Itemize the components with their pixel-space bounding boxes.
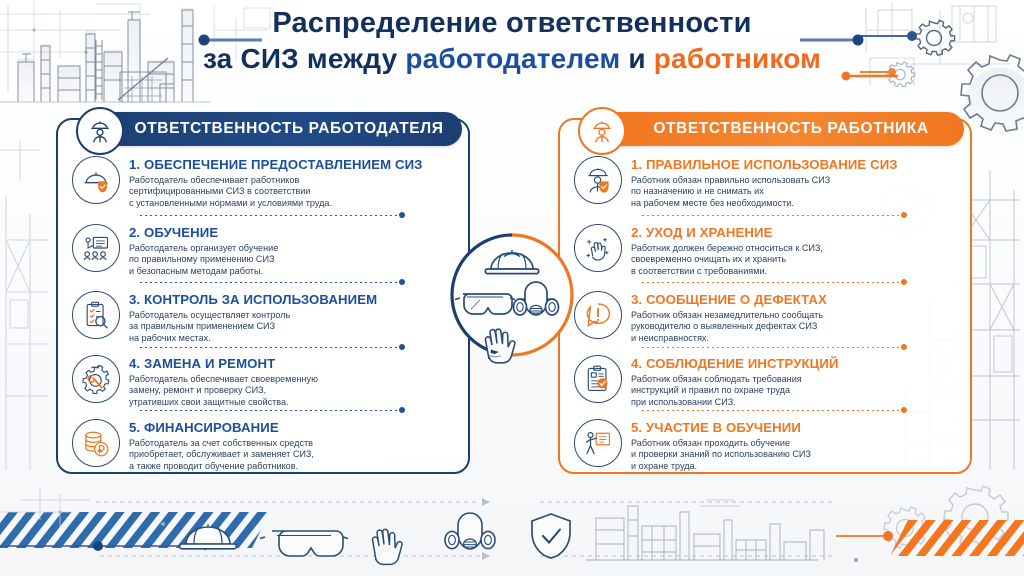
clipboard-check-icon xyxy=(574,355,622,403)
worker-item-3-body: Работник обязан незамедлительно сообщать… xyxy=(631,310,827,344)
body-line: а также проводит обучение работников. xyxy=(129,461,314,472)
title-line-2: за СИЗ между работодателем и работником xyxy=(0,41,1024,76)
separator xyxy=(642,215,904,216)
body-line: своевременно очищать их и хранить xyxy=(631,254,823,265)
title-line-1: Распределение ответственности xyxy=(0,6,1024,41)
separator xyxy=(140,347,402,348)
worker-item-1: 1. ПРАВИЛЬНОЕ ИСПОЛЬЗОВАНИЕ СИЗ Работник… xyxy=(574,156,904,209)
presenter-board-icon xyxy=(574,419,622,467)
employer-badge xyxy=(76,107,124,155)
body-line: Работодатель обеспечивает своевременную xyxy=(129,374,318,385)
worker-item-2-body: Работник должен бережно относиться к СИЗ… xyxy=(631,243,823,277)
employer-item-5-title: 5. ФИНАНСИРОВАНИЕ xyxy=(129,420,314,435)
employer-panel-header: ОТВЕТСТВЕННОСТЬ РАБОТОДАТЕЛЯ xyxy=(90,112,462,146)
worker-item-5-title: 5. УЧАСТИЕ В ОБУЧЕНИИ xyxy=(631,420,811,435)
center-ppe-medallion xyxy=(447,219,577,371)
speech-bubble-alert-icon xyxy=(574,291,622,339)
employer-item-1-title: 1. ОБЕСПЕЧЕНИЕ ПРЕДОСТАВЛЕНИЕМ СИЗ xyxy=(129,157,423,172)
infographic-canvas: Распределение ответственности за СИЗ меж… xyxy=(0,0,1024,576)
body-line: утративших свои защитные свойства. xyxy=(129,397,318,408)
training-board-icon xyxy=(72,224,120,272)
hard-hat-icon xyxy=(180,524,237,549)
body-line: за правильным применением СИЗ xyxy=(129,321,377,332)
employer-item-4-body: Работодатель обеспечивает своевременную … xyxy=(129,374,318,408)
employer-item-4-title: 4. ЗАМЕНА И РЕМОНТ xyxy=(129,356,318,371)
body-line: Работник обязан незамедлительно сообщать xyxy=(631,310,827,321)
shield-check-icon xyxy=(532,514,570,558)
employer-item-3-title: 3. КОНТРОЛЬ ЗА ИСПОЛЬЗОВАНИЕМ xyxy=(129,292,377,307)
body-line: Работодатель организует обучение xyxy=(129,243,278,254)
worker-item-5: 5. УЧАСТИЕ В ОБУЧЕНИИ Работник обязан пр… xyxy=(574,419,904,472)
employer-item-2: 2. ОБУЧЕНИЕ Работодатель организует обуч… xyxy=(72,224,402,277)
worker-item-3-title: 3. СООБЩЕНИЕ О ДЕФЕКТАХ xyxy=(631,292,827,307)
separator-dot xyxy=(901,344,907,350)
safety-goggles-icon xyxy=(260,531,348,556)
bottom-ppe-icons xyxy=(0,492,1024,576)
body-line: и безопасным методам работы. xyxy=(129,266,278,277)
body-line: на рабочем месте без необходимости. xyxy=(631,198,898,209)
body-line: с установленными нормами и условиями тру… xyxy=(129,198,423,209)
worker-item-1-body: Работник обязан правильно использовать С… xyxy=(631,175,898,209)
body-line: Работник должен бережно относиться к СИЗ… xyxy=(631,243,823,254)
worker-item-3: 3. СООБЩЕНИЕ О ДЕФЕКТАХ Работник обязан … xyxy=(574,291,904,344)
coins-ruble-icon xyxy=(72,419,120,467)
clipboard-magnifier-icon xyxy=(72,291,120,339)
separator-dot xyxy=(399,212,405,218)
worker-item-4: 4. СОБЛЮДЕНИЕ ИНСТРУКЦИЙ Работник обязан… xyxy=(574,355,904,408)
title-part-1: за СИЗ между xyxy=(203,43,405,74)
body-line: и неисправностях. xyxy=(631,333,827,344)
page-title: Распределение ответственности за СИЗ меж… xyxy=(0,6,1024,76)
gear-wrench-icon xyxy=(72,355,120,403)
separator xyxy=(140,282,402,283)
cleaning-hand-sparkle-icon xyxy=(574,224,622,272)
separator-dot xyxy=(901,407,907,413)
worker-header-label: ОТВЕТСТВЕННОСТЬ РАБОТНИКА xyxy=(592,120,964,138)
respirator-mask-icon xyxy=(445,513,495,549)
body-line: и охране труда. xyxy=(631,461,811,472)
body-line: и проверки знаний по использованию СИЗ xyxy=(631,449,811,460)
body-line: Работодатель за счет собственных средств xyxy=(129,438,314,449)
body-line: в соответствии с требованиями. xyxy=(631,266,823,277)
hard-hat-shield-icon xyxy=(72,156,120,204)
worker-shield-icon xyxy=(574,156,622,204)
worker-item-4-title: 4. СОБЛЮДЕНИЕ ИНСТРУКЦИЙ xyxy=(631,356,839,371)
employer-item-3-body: Работодатель осуществляет контроль за пр… xyxy=(129,310,377,344)
worker-helmet-icon xyxy=(588,117,616,145)
employer-item-2-body: Работодатель организует обучение по прав… xyxy=(129,243,278,277)
employer-item-5-body: Работодатель за счет собственных средств… xyxy=(129,438,314,472)
separator xyxy=(642,347,904,348)
body-line: замену, ремонт и проверку СИЗ, xyxy=(129,385,318,396)
left-structure-line-art xyxy=(0,140,48,470)
separator-dot xyxy=(399,279,405,285)
worker-badge xyxy=(578,107,626,155)
worker-item-4-body: Работник обязан соблюдать требования инс… xyxy=(631,374,839,408)
body-line: Работодатель осуществляет контроль xyxy=(129,310,377,321)
worker-item-1-title: 1. ПРАВИЛЬНОЕ ИСПОЛЬЗОВАНИЕ СИЗ xyxy=(631,157,898,172)
employer-item-4: 4. ЗАМЕНА И РЕМОНТ Работодатель обеспечи… xyxy=(72,355,402,408)
separator-dot xyxy=(901,279,907,285)
employer-item-1: 1. ОБЕСПЕЧЕНИЕ ПРЕДОСТАВЛЕНИЕМ СИЗ Работ… xyxy=(72,156,402,209)
employer-header-label: ОТВЕТСТВЕННОСТЬ РАБОТОДАТЕЛЯ xyxy=(90,120,462,138)
separator xyxy=(140,215,402,216)
body-line: Работник обязан проходить обучение xyxy=(631,438,811,449)
separator xyxy=(140,410,402,411)
employer-item-3: 3. КОНТРОЛЬ ЗА ИСПОЛЬЗОВАНИЕМ Работодате… xyxy=(72,291,402,344)
employer-item-2-title: 2. ОБУЧЕНИЕ xyxy=(129,225,278,240)
body-line: по назначению и не снимать их xyxy=(631,186,898,197)
body-line: при использовании СИЗ. xyxy=(631,397,839,408)
worker-item-2-title: 2. УХОД И ХРАНЕНИЕ xyxy=(631,225,823,240)
separator xyxy=(642,410,904,411)
body-line: сертифицированными СИЗ в соответствии xyxy=(129,186,423,197)
body-line: на рабочих местах. xyxy=(129,333,377,344)
worker-helmet-icon xyxy=(86,117,114,145)
separator xyxy=(642,282,904,283)
body-line: Работодатель обеспечивает работников xyxy=(129,175,423,186)
worker-item-2: 2. УХОД И ХРАНЕНИЕ Работник должен береж… xyxy=(574,224,904,277)
body-line: Работник обязан соблюдать требования xyxy=(631,374,839,385)
title-part-employer: работодателем xyxy=(405,43,620,74)
body-line: Работник обязан правильно использовать С… xyxy=(631,175,898,186)
title-part-worker: работником xyxy=(654,43,821,74)
body-line: инструкций и правил по охране труда xyxy=(631,385,839,396)
separator-dot xyxy=(901,212,907,218)
worker-panel-header: ОТВЕТСТВЕННОСТЬ РАБОТНИКА xyxy=(592,112,964,146)
employer-item-5: 5. ФИНАНСИРОВАНИЕ Работодатель за счет с… xyxy=(72,419,402,472)
separator-dot xyxy=(399,407,405,413)
body-line: руководителю о выявленных дефектах СИЗ xyxy=(631,321,827,332)
body-line: приобретает, обслуживает и заменяет СИЗ, xyxy=(129,449,314,460)
separator-dot xyxy=(399,344,405,350)
safety-glove-icon xyxy=(373,529,403,564)
worker-item-5-body: Работник обязан проходить обучение и про… xyxy=(631,438,811,472)
body-line: по правильному применению СИЗ xyxy=(129,254,278,265)
employer-item-1-body: Работодатель обеспечивает работников сер… xyxy=(129,175,423,209)
title-part-3: и xyxy=(620,43,653,74)
